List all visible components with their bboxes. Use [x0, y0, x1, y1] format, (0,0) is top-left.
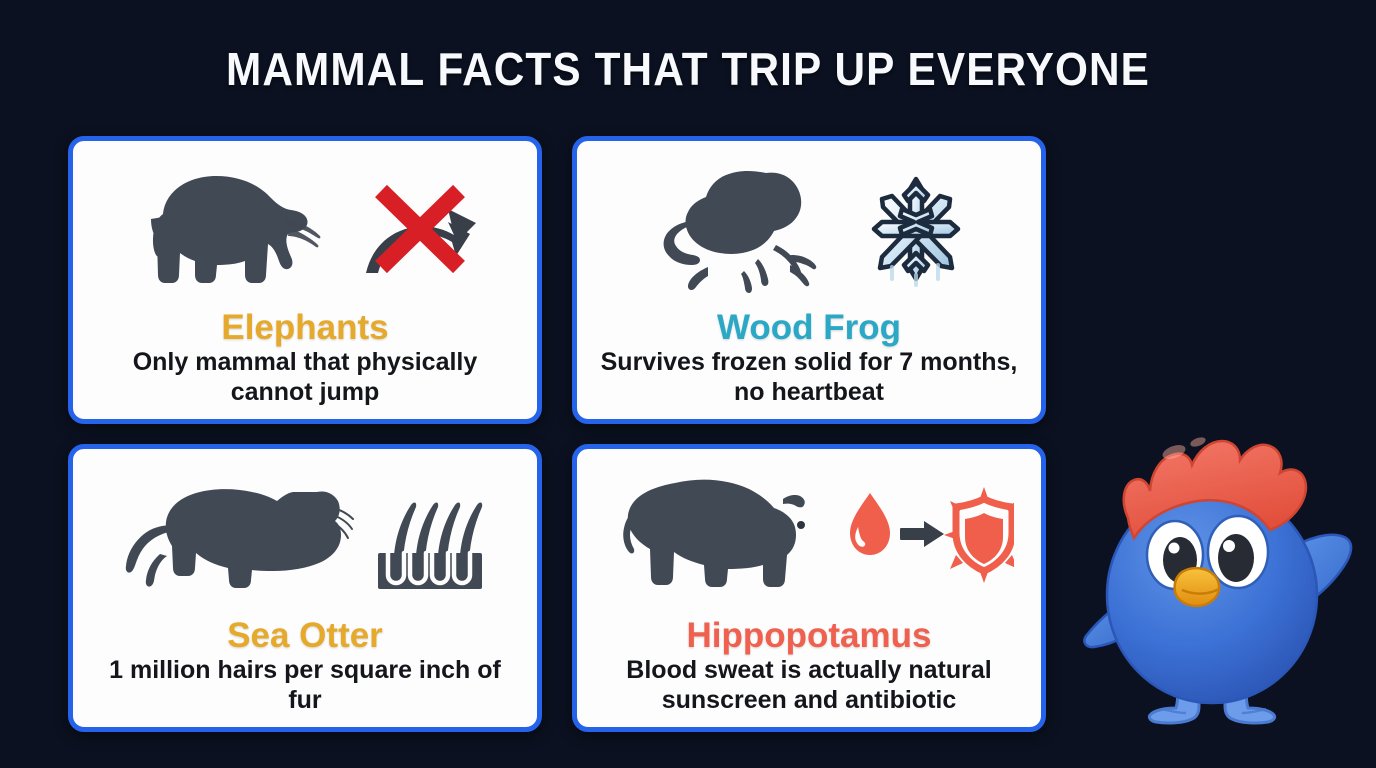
- card-title: Elephants: [221, 309, 388, 346]
- page-title: MAMMAL FACTS THAT TRIP UP EVERYONE: [55, 42, 1321, 96]
- no-jump-crossed-arrow-icon: [356, 173, 484, 285]
- fact-card-elephants[interactable]: Elephants Only mammal that physically ca…: [68, 136, 542, 424]
- card-description: 1 million hairs per square inch of fur: [95, 656, 515, 715]
- frog-silhouette: [648, 159, 848, 299]
- card-artwork: [87, 463, 523, 611]
- card-description: Survives frozen solid for 7 months, no h…: [599, 348, 1019, 407]
- elephant-silhouette: [127, 159, 342, 299]
- card-description: Only mammal that physically cannot jump: [95, 348, 515, 407]
- card-title: Wood Frog: [717, 309, 901, 346]
- otter-silhouette: [121, 472, 356, 602]
- blue-bird-mascot: [1070, 390, 1370, 740]
- blood-drop-to-shield-icon: [844, 487, 1014, 587]
- fact-card-grid: Elephants Only mammal that physically ca…: [68, 136, 1046, 732]
- snowflake-icon: [862, 169, 970, 289]
- card-description: Blood sweat is actually natural sunscree…: [599, 656, 1019, 715]
- fur-follicle-icon: [370, 479, 490, 595]
- card-artwork: [591, 463, 1027, 611]
- card-title: Sea Otter: [227, 617, 383, 654]
- fact-card-hippopotamus[interactable]: Hippopotamus Blood sweat is actually nat…: [572, 444, 1046, 732]
- hippopotamus-silhouette: [605, 469, 830, 604]
- bird-beak: [1175, 568, 1220, 606]
- card-title: Hippopotamus: [687, 617, 932, 654]
- fact-card-sea-otter[interactable]: Sea Otter 1 million hairs per square inc…: [68, 444, 542, 732]
- fact-card-wood-frog[interactable]: Wood Frog Survives frozen solid for 7 mo…: [572, 136, 1046, 424]
- card-artwork: [591, 155, 1027, 303]
- card-artwork: [87, 155, 523, 303]
